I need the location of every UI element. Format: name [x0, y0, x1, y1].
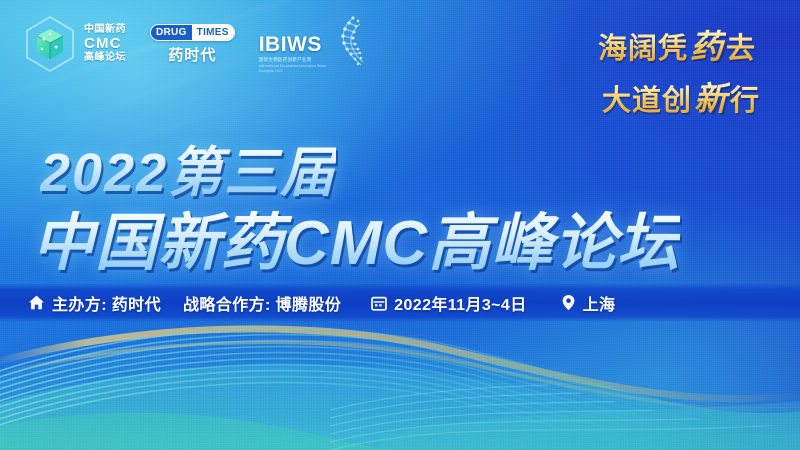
drug-times-chinese: 药时代	[168, 44, 216, 65]
info-bar-inner: 主办方: 药时代 战略合作方: 博腾股份 2022年11月3~4日	[0, 291, 615, 315]
partner-label: 战略合作方: 博腾股份	[183, 291, 341, 315]
gold-slogan: 海阔凭 药 去 大道创 新 行	[598, 20, 756, 120]
info-bar: 主办方: 药时代 战略合作方: 博腾股份 2022年11月3~4日	[0, 283, 800, 322]
home-icon	[28, 294, 45, 311]
conference-poster: 中国新药 CMC 高峰论坛 DRUG TIMES 药时代 IBIWS 国际生物医…	[0, 0, 800, 450]
slogan-line2-a: 大道创	[602, 77, 692, 119]
pill-capsule-icon: DRUG TIMES	[150, 24, 235, 41]
location-label: 上海	[583, 291, 616, 315]
slogan-line2-accent: 新	[692, 72, 730, 120]
calendar-icon	[371, 295, 387, 311]
cmc-logo-line2: CMC	[84, 35, 122, 52]
drug-times-pill-left: DRUG	[151, 25, 192, 40]
ibiws-subtitle-year: Shanghai 2022	[259, 69, 283, 73]
partner-info: 战略合作方: 博腾股份	[183, 291, 341, 315]
cmc-logo-line1: 中国新药	[84, 25, 126, 36]
host-info: 主办方: 药时代	[28, 291, 161, 315]
slogan-line-1: 海阔凭 药 去	[598, 20, 756, 68]
dna-helix-icon	[330, 15, 364, 73]
drug-times-logo[interactable]: DRUG TIMES 药时代	[150, 24, 235, 65]
drug-times-pill-right: TIMES	[192, 25, 234, 40]
ibiws-logo-text: IBIWS 国际生物医药创新产业周 International Bio-phar…	[259, 34, 326, 73]
slogan-line2-c: 行	[730, 77, 760, 119]
date-info: 2022年11月3~4日	[371, 291, 526, 315]
date-label: 2022年11月3~4日	[394, 291, 526, 315]
location-info: 上海	[561, 291, 616, 315]
slogan-line1-accent: 药	[688, 20, 726, 68]
slogan-line1-c: 去	[726, 25, 756, 67]
location-pin-icon	[561, 294, 576, 311]
title-line-2: 中国新药CMC高峰论坛	[32, 192, 680, 282]
cmc-logo-line3: 高峰论坛	[84, 53, 126, 64]
ibiws-subtitle-cn: 国际生物医药创新产业周	[259, 57, 312, 63]
ibiws-logo[interactable]: IBIWS 国际生物医药创新产业周 International Bio-phar…	[259, 15, 364, 73]
cmc-forum-logo[interactable]: 中国新药 CMC 高峰论坛	[22, 14, 126, 74]
ibiws-acronym: IBIWS	[259, 34, 322, 55]
slogan-line-2: 大道创 新 行	[602, 72, 760, 120]
logo-row: 中国新药 CMC 高峰论坛 DRUG TIMES 药时代 IBIWS 国际生物医…	[22, 14, 364, 74]
cmc-forum-logo-text: 中国新药 CMC 高峰论坛	[84, 25, 126, 63]
hexagon-molecule-icon	[22, 14, 78, 74]
ibiws-subtitle-en: International Bio-pharma Innovation Week	[259, 64, 326, 68]
host-label: 主办方: 药时代	[52, 291, 161, 315]
slogan-line1-a: 海阔凭	[598, 25, 688, 67]
